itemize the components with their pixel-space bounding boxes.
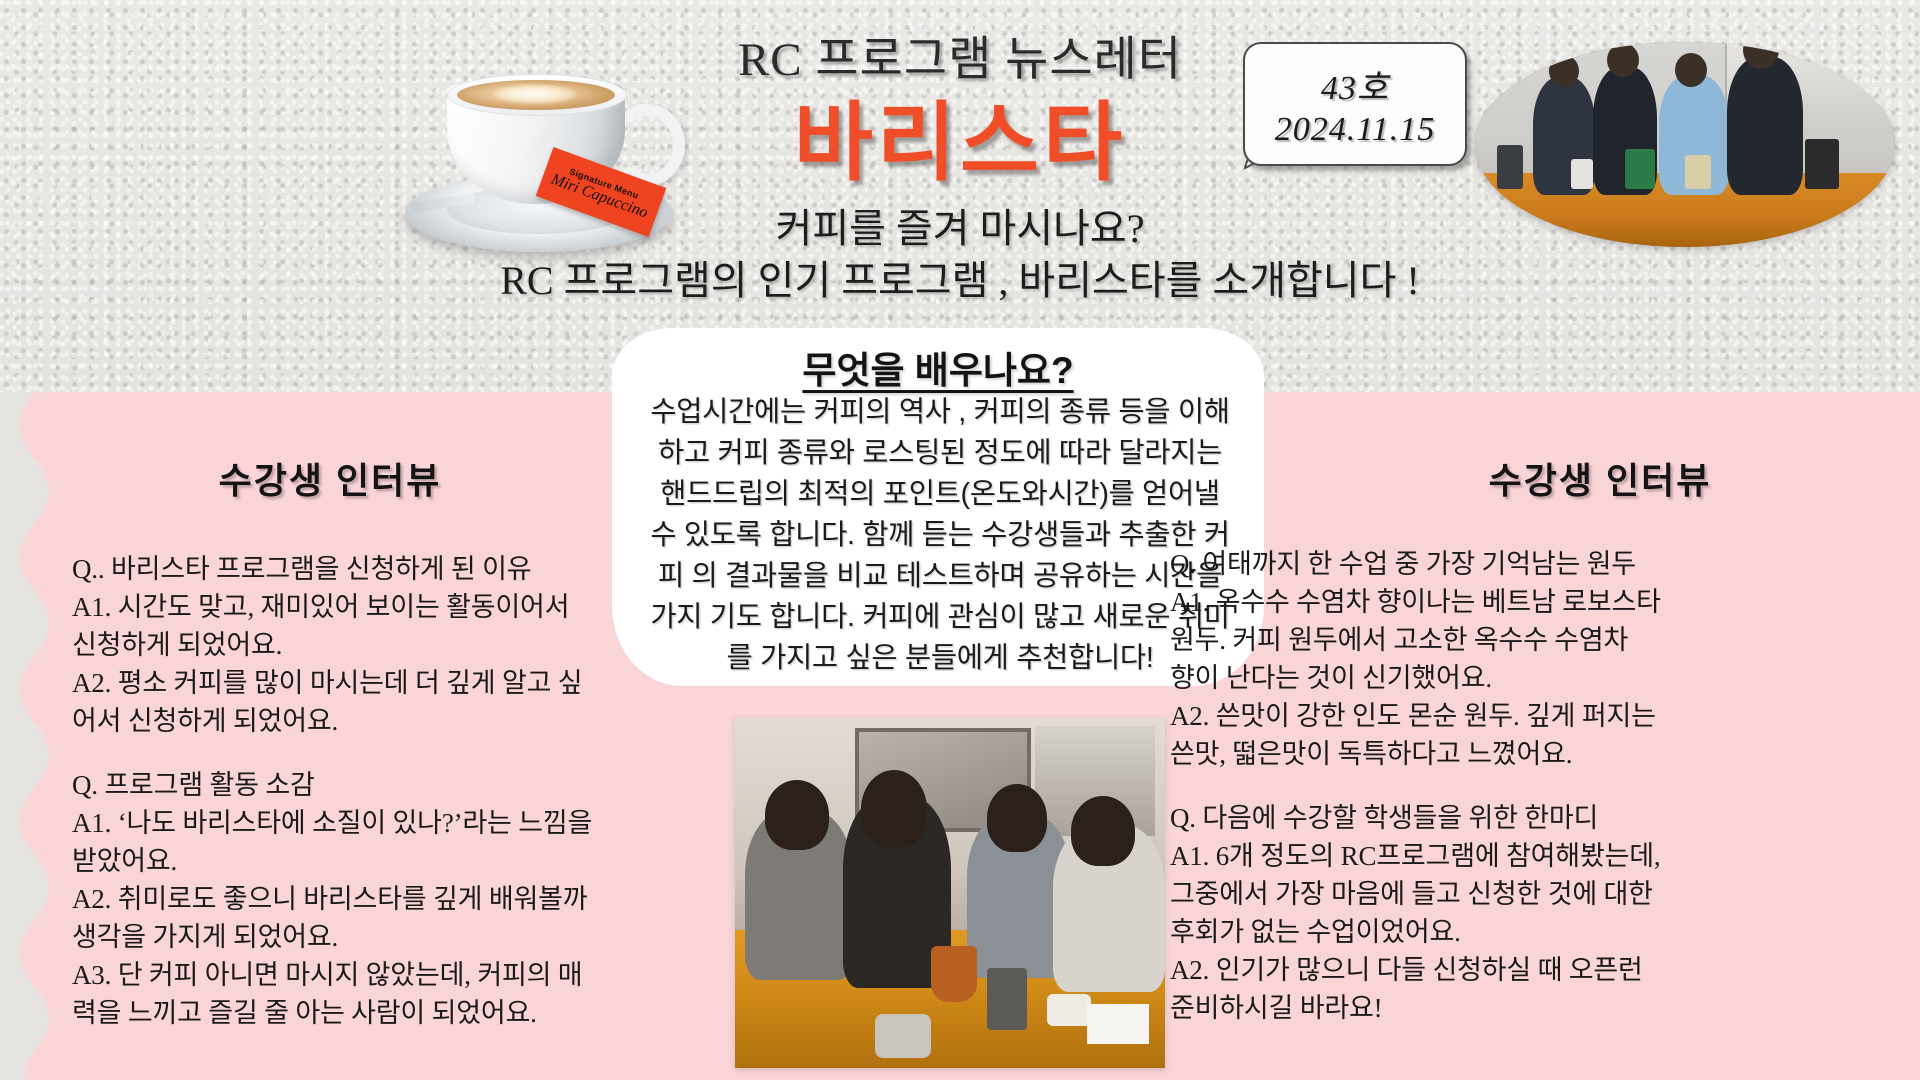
photo-person-head (765, 780, 829, 850)
answer: A3. 단 커피 아니면 마시지 않았는데, 커피의 매 (72, 956, 672, 994)
answer: 향이 난다는 것이 신기했어요. (1170, 659, 1860, 697)
answer: 생각을 가지게 되었어요. (72, 918, 672, 956)
photo-person (1727, 57, 1803, 195)
top-right-photo (1475, 42, 1895, 247)
info-card-title: 무엇을 배우나요? (612, 340, 1264, 394)
info-card-body: 수업시간에는 커피의 역사 , 커피의 종류 등을 이해 하고 커피 종류와 로… (648, 392, 1232, 679)
photo-person-head (987, 784, 1047, 852)
answer: A2. 취미로도 좋으니 바리스타를 깊게 배워볼까 (72, 880, 672, 918)
newsletter-poster: RC 프로그램 뉴스레터 바리스타 커피를 즐겨 마시나요? RC 프로그램의 … (0, 0, 1920, 1080)
answer: 준비하시길 바라요! (1170, 989, 1860, 1027)
answer: 어서 신청하게 되었어요. (72, 702, 672, 740)
latte-art-shape (493, 84, 577, 104)
answer: 그중에서 가장 마음에 들고 신청한 것에 대한 (1170, 875, 1860, 913)
answer: A1. ‘나도 바리스타에 소질이 있나?’라는 느낌을 (72, 804, 672, 842)
answer: A1. 6개 정도의 RC프로그램에 참여해봤는데, (1170, 837, 1860, 875)
bottom-center-photo (735, 718, 1165, 1068)
photo-person-head (1071, 796, 1135, 866)
answer: A1. 옥수수 수염차 향이나는 베트남 로보스타 (1170, 583, 1860, 621)
photo-equipment (1497, 145, 1523, 189)
photo-server (987, 968, 1027, 1030)
paragraph-gap (1170, 773, 1860, 799)
issue-badge: 43호 2024.11.15 (1243, 42, 1467, 166)
answer: A2. 인기가 많으니 다들 신청하실 때 오픈런 (1170, 951, 1860, 989)
photo-cup (1047, 994, 1091, 1026)
right-column-title: 수강생 인터뷰 (1330, 452, 1870, 504)
answer: 쓴맛, 떫은맛이 독특하다고 느꼈어요. (1170, 735, 1860, 773)
answer: 력을 느끼고 즐길 줄 아는 사람이 되었어요. (72, 994, 672, 1032)
photo-person-head (861, 770, 927, 848)
photo-paper (1087, 1004, 1149, 1044)
left-column-title: 수강생 인터뷰 (60, 452, 600, 504)
paragraph-gap (72, 740, 672, 766)
question: Q. 프로그램 활동 소감 (72, 766, 672, 804)
answer: 신청하게 되었어요. (72, 626, 672, 664)
answer: A1. 시간도 맞고, 재미있어 보이는 활동이어서 (72, 588, 672, 626)
photo-equipment (1625, 149, 1655, 189)
issue-number: 43호 (1321, 60, 1389, 109)
left-column-qa: Q.. 바리스타 프로그램을 신청하게 된 이유 A1. 시간도 맞고, 재미있… (72, 550, 672, 1032)
issue-date: 2024.11.15 (1275, 111, 1435, 149)
photo-person-head (1675, 53, 1707, 87)
photo-dripper (931, 946, 977, 1002)
question: Q. 다음에 수강할 학생들을 위한 한마디 (1170, 799, 1860, 837)
question: Q.. 바리스타 프로그램을 신청하게 된 이유 (72, 550, 672, 588)
answer: 받았어요. (72, 842, 672, 880)
photo-equipment (1685, 155, 1711, 189)
answer: A2. 쓴맛이 강한 인도 몬순 원두. 깊게 퍼지는 (1170, 697, 1860, 735)
right-column-qa: Q. 여태까지 한 수업 중 가장 기억남는 원두 A1. 옥수수 수염차 향이… (1170, 545, 1860, 1027)
photo-equipment (1571, 159, 1593, 189)
answer: 후회가 없는 수업이었어요. (1170, 913, 1860, 951)
photo-person-head (1549, 55, 1579, 87)
answer: A2. 평소 커피를 많이 마시는데 더 깊게 알고 싶 (72, 664, 672, 702)
photo-person-head (1607, 43, 1639, 77)
question: Q. 여태까지 한 수업 중 가장 기억남는 원두 (1170, 545, 1860, 583)
photo-kettle (875, 1014, 931, 1058)
wavy-edge-decoration (0, 392, 60, 1080)
answer: 원두. 커피 원두에서 고소한 옥수수 수염차 (1170, 621, 1860, 659)
coffee-cup-illustration: Signature Menu Miri Capuccino (395, 48, 695, 263)
page-title: 바리스타 (700, 72, 1220, 197)
photo-equipment (1805, 139, 1839, 189)
